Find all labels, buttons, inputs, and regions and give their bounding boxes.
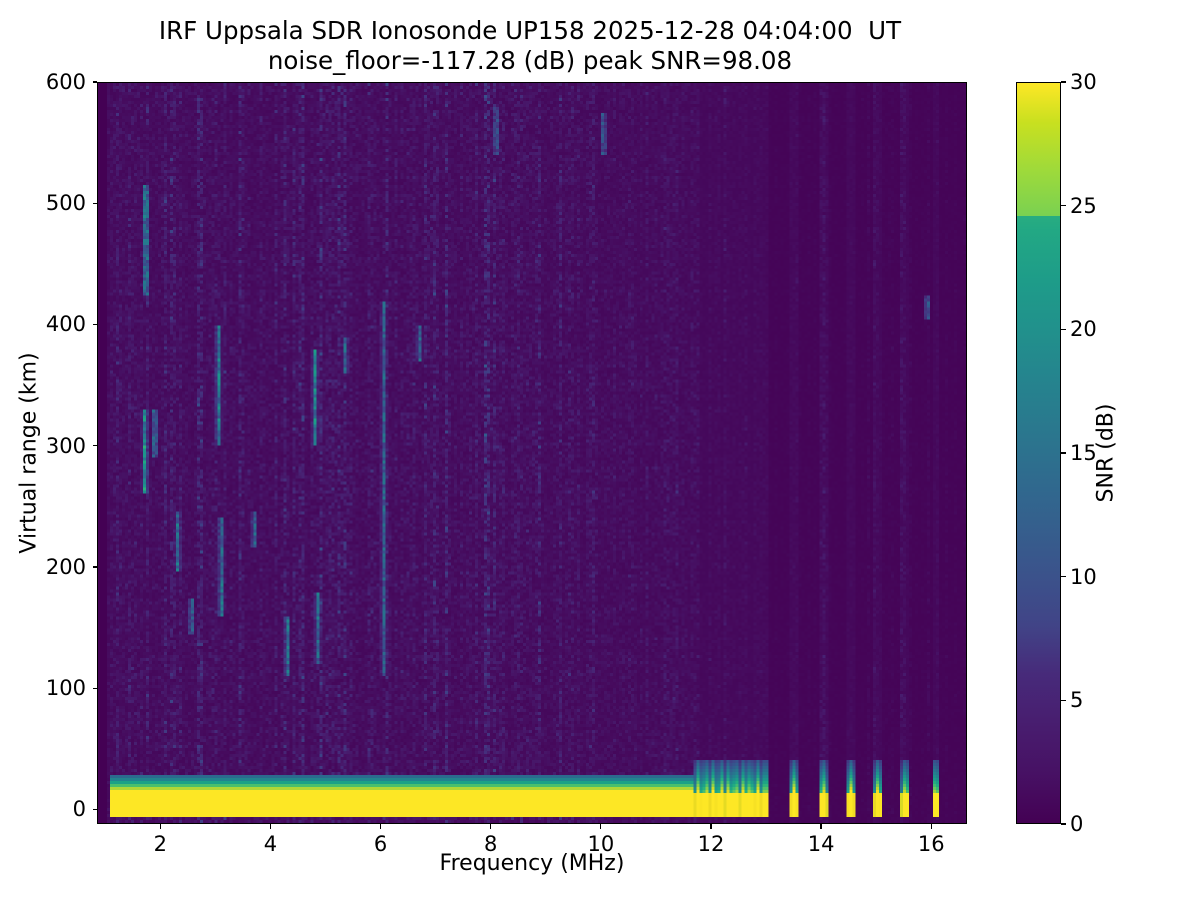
y-tick-mark: [93, 809, 98, 810]
colorbar-gradient: [1017, 83, 1060, 823]
y-tick-label: 500: [0, 191, 86, 215]
colorbar[interactable]: [1016, 82, 1061, 824]
title-line-2: noise_floor=-117.28 (dB) peak SNR=98.08: [0, 46, 1060, 76]
colorbar-tick-mark: [1061, 823, 1066, 824]
x-axis-label: Frequency (MHz): [97, 851, 967, 876]
colorbar-gradient-high: [1017, 83, 1060, 216]
x-tick-mark: [931, 824, 932, 829]
colorbar-tick-label: 5: [1070, 688, 1083, 712]
colorbar-tick-mark: [1061, 329, 1066, 330]
y-tick-mark: [93, 203, 98, 204]
ionogram-figure: IRF Uppsala SDR Ionosonde UP158 2025-12-…: [0, 0, 1200, 900]
x-tick-mark: [270, 824, 271, 829]
colorbar-tick-mark: [1061, 576, 1066, 577]
colorbar-label: SNR (dB): [1094, 404, 1119, 503]
colorbar-tick-mark: [1061, 452, 1066, 453]
colorbar-tick-mark: [1061, 81, 1066, 82]
x-tick-mark: [490, 824, 491, 829]
colorbar-tick-mark: [1061, 205, 1066, 206]
x-tick-mark: [600, 824, 601, 829]
colorbar-tick-label: 0: [1070, 812, 1083, 836]
y-tick-label: 300: [0, 434, 86, 458]
y-tick-mark: [93, 324, 98, 325]
y-tick-label: 100: [0, 676, 86, 700]
y-tick-label: 600: [0, 70, 86, 94]
y-tick-mark: [93, 445, 98, 446]
colorbar-tick-mark: [1061, 700, 1066, 701]
ionogram-plot-area[interactable]: [97, 82, 967, 824]
y-tick-label: 200: [0, 555, 86, 579]
y-tick-mark: [93, 81, 98, 82]
x-tick-mark: [160, 824, 161, 829]
y-tick-mark: [93, 688, 98, 689]
colorbar-tick-label: 30: [1070, 70, 1097, 94]
ionogram-heatmap: [98, 83, 966, 823]
y-tick-mark: [93, 566, 98, 567]
title-line-1: IRF Uppsala SDR Ionosonde UP158 2025-12-…: [0, 16, 1060, 46]
x-tick-mark: [820, 824, 821, 829]
colorbar-tick-label: 10: [1070, 565, 1097, 589]
figure-title: IRF Uppsala SDR Ionosonde UP158 2025-12-…: [0, 16, 1060, 76]
x-tick-mark: [710, 824, 711, 829]
y-axis-label: Virtual range (km): [17, 352, 42, 553]
x-tick-mark: [380, 824, 381, 829]
y-tick-label: 400: [0, 312, 86, 336]
y-tick-label: 0: [0, 797, 86, 821]
colorbar-tick-label: 20: [1070, 317, 1097, 341]
colorbar-tick-label: 25: [1070, 194, 1097, 218]
